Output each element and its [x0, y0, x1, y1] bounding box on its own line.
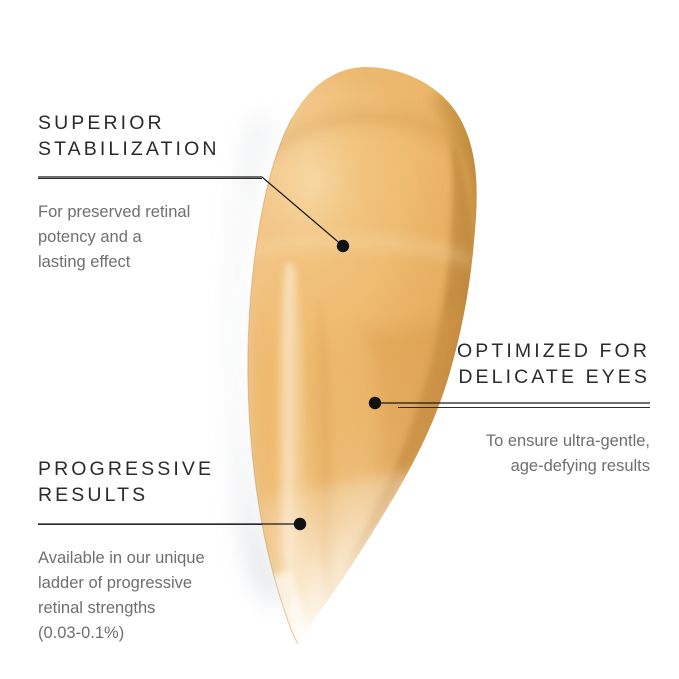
callout-rule-progressive-results	[38, 524, 262, 525]
callout-heading-superior-stabilization: SUPERIOR STABILIZATION	[38, 110, 270, 162]
callout-rule-optimized-delicate-eyes	[398, 407, 650, 408]
infographic-canvas: SUPERIOR STABILIZATION For preserved ret…	[0, 0, 679, 679]
callout-heading-optimized-delicate-eyes: OPTIMIZED FOR DELICATE EYES	[398, 338, 650, 390]
callout-optimized-delicate-eyes: OPTIMIZED FOR DELICATE EYES To ensure ul…	[398, 338, 650, 479]
callout-superior-stabilization: SUPERIOR STABILIZATION For preserved ret…	[38, 110, 270, 275]
callout-body-optimized-delicate-eyes: To ensure ultra-gentle, age-defying resu…	[398, 429, 650, 479]
callout-rule-superior-stabilization	[38, 178, 262, 179]
callout-progressive-results: PROGRESSIVE RESULTS Available in our uni…	[38, 456, 270, 646]
callout-body-superior-stabilization: For preserved retinal potency and a last…	[38, 200, 270, 275]
callout-heading-progressive-results: PROGRESSIVE RESULTS	[38, 456, 270, 508]
callout-body-progressive-results: Available in our unique ladder of progre…	[38, 546, 270, 646]
